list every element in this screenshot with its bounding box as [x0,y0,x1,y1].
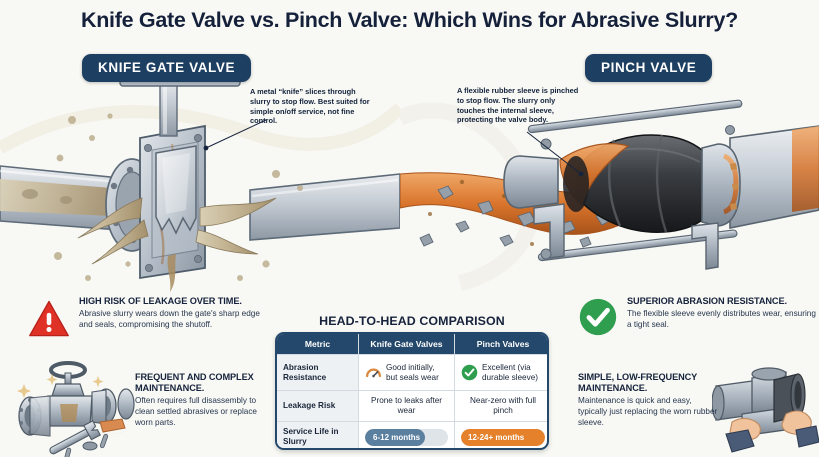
pinch-valve-leader-line [525,130,587,180]
page-title: Knife Gate Valve vs. Pinch Valve: Which … [0,8,819,33]
feature-body: Often requires full disassembly to clean… [135,396,275,429]
hands-sleeve-icon [712,362,819,457]
disassembled-valve-icon [8,360,136,457]
service-life-pill-pinch: 12-24+ months [461,429,545,446]
service-life-track-knife: 6-12 months [365,429,448,446]
infographic-canvas: Knife Gate Valve vs. Pinch Valve: Which … [0,0,819,457]
service-life-pill-knife: 6-12 months [365,429,425,446]
feature-simple-maintenance: SIMPLE, LOW-FREQUENCY MAINTENANCE. Maint… [578,372,723,429]
cell-knife-service-life: 6-12 months [359,422,455,450]
comparison-title: HEAD-TO-HEAD COMPARISON [272,314,552,328]
feature-heading: FREQUENT AND COMPLEX MAINTENANCE. [135,372,275,394]
table-row: Service Life in Slurry 6-12 months 12-24… [277,422,547,450]
feature-body: Maintenance is quick and easy, typically… [578,396,723,429]
badge-pinch-valve: PINCH VALVE [585,54,712,82]
feature-heading: SIMPLE, LOW-FREQUENCY MAINTENANCE. [578,372,723,394]
feature-body: The flexible sleeve evenly distributes w… [627,309,818,331]
feature-leakage-risk: HIGH RISK OF LEAKAGE OVER TIME. Abrasive… [28,296,270,340]
column-header-metric: Metric [277,334,359,355]
cell-pinch-leakage: Near-zero with full pinch [455,391,549,422]
feature-heading: SUPERIOR ABRASION RESISTANCE. [627,296,818,307]
row-label-leakage-risk: Leakage Risk [277,391,359,422]
check-circle-icon [578,297,618,337]
cell-pinch-abrasion: Excellent (via durable sleeve) [455,355,549,391]
cell-knife-leakage: Prone to leaks after wear [359,391,455,422]
comparison-table: Metric Knife Gate Valves Pinch Valves Ab… [275,332,549,450]
cell-knife-abrasion: Good initially, but seals wear [359,355,455,391]
feature-heading: HIGH RISK OF LEAKAGE OVER TIME. [79,296,270,307]
table-header-row: Metric Knife Gate Valves Pinch Valves [277,334,547,355]
cell-text: Excellent (via durable sleeve) [482,363,545,383]
knife-gate-leader-line [200,118,270,152]
column-header-knife-gate: Knife Gate Valves [359,334,455,355]
gauge-icon [365,364,382,381]
badge-knife-gate-valve: KNIFE GATE VALVE [82,54,251,82]
warning-triangle-icon [28,298,70,340]
feature-abrasion-resistance: SUPERIOR ABRASION RESISTANCE. The flexib… [578,296,818,337]
column-header-pinch: Pinch Valves [455,334,549,355]
check-circle-icon [461,364,478,381]
table-row: Abrasion Resistance Good initially, but … [277,355,547,391]
row-label-service-life: Service Life in Slurry [277,422,359,450]
pinch-valve-annotation: A flexible rubber sleeve is pinched to s… [457,86,582,125]
row-label-abrasion-resistance: Abrasion Resistance [277,355,359,391]
service-life-track-pinch: 12-24+ months [461,429,545,446]
table-row: Leakage Risk Prone to leaks after wear N… [277,391,547,422]
cell-text: Good initially, but seals wear [386,363,448,383]
cell-pinch-service-life: 12-24+ months [455,422,549,450]
feature-complex-maintenance: FREQUENT AND COMPLEX MAINTENANCE. Often … [135,372,275,429]
feature-body: Abrasive slurry wears down the gate's sh… [79,309,270,331]
